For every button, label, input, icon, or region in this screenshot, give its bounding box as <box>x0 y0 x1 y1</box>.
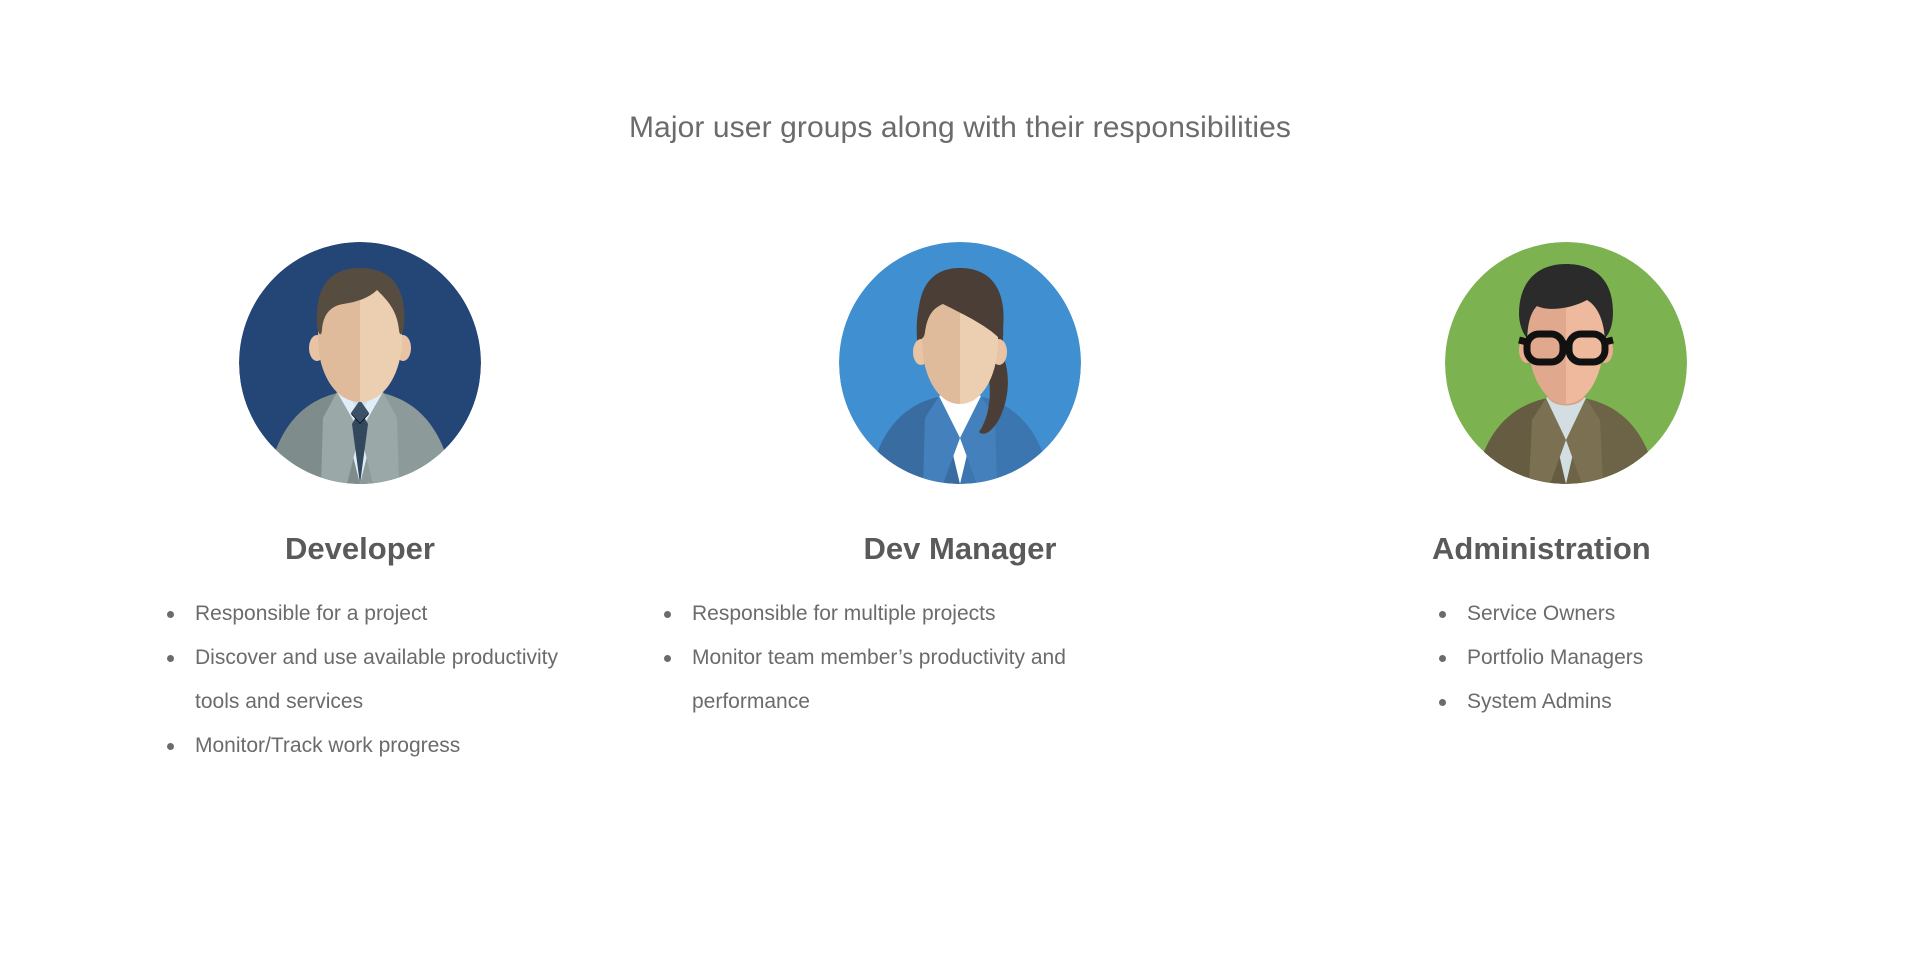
user-group-dev-manager: Dev Manager Responsible for multiple pro… <box>660 240 1260 800</box>
list-item: Service Owners <box>1437 592 1847 636</box>
responsibility-list: Service Owners Portfolio Managers System… <box>1260 592 1860 724</box>
bullet-icon <box>1439 699 1446 706</box>
list-item: Portfolio Managers <box>1437 636 1847 680</box>
list-item-label: Responsible for multiple projects <box>692 602 995 625</box>
list-item: Discover and use available productivity … <box>165 636 575 724</box>
slide-canvas: Major user groups along with their respo… <box>0 0 1920 978</box>
bullet-icon <box>1439 611 1446 618</box>
list-item-label: Service Owners <box>1467 602 1615 625</box>
group-title: Administration <box>1260 530 1860 568</box>
bullet-icon <box>167 743 174 750</box>
page-title: Major user groups along with their respo… <box>0 108 1920 148</box>
avatar-wrap-developer <box>60 240 660 486</box>
list-item: Responsible for a project <box>165 592 575 636</box>
list-item-label: Responsible for a project <box>195 602 427 625</box>
avatar-businessman-icon <box>239 242 481 484</box>
avatar-wrap-dev-manager <box>660 240 1260 486</box>
group-title: Developer <box>60 530 660 568</box>
user-groups-row: Developer Responsible for a project Disc… <box>0 240 1920 800</box>
responsibility-list: Responsible for multiple projects Monito… <box>660 592 1260 724</box>
bullet-icon <box>664 611 671 618</box>
list-item-label: Monitor/Track work progress <box>195 734 460 757</box>
list-item-label: Monitor team member’s productivity and p… <box>692 646 1066 713</box>
list-item: Monitor/Track work progress <box>165 724 575 768</box>
list-item: Monitor team member’s productivity and p… <box>662 636 1072 724</box>
user-group-developer: Developer Responsible for a project Disc… <box>60 240 660 800</box>
list-item-label: Portfolio Managers <box>1467 646 1643 669</box>
list-item-label: System Admins <box>1467 690 1612 713</box>
avatar-admin-glasses-icon <box>1445 242 1687 484</box>
responsibility-list: Responsible for a project Discover and u… <box>60 592 660 768</box>
avatar-wrap-administration <box>1260 240 1860 486</box>
bullet-icon <box>1439 655 1446 662</box>
list-item: Responsible for multiple projects <box>662 592 1072 636</box>
user-group-administration: Administration Service Owners Portfolio … <box>1260 240 1860 800</box>
bullet-icon <box>167 655 174 662</box>
bullet-icon <box>664 655 671 662</box>
avatar-businesswoman-icon <box>839 242 1081 484</box>
list-item-label: Discover and use available productivity … <box>195 646 558 713</box>
group-title: Dev Manager <box>660 530 1260 568</box>
bullet-icon <box>167 611 174 618</box>
list-item: System Admins <box>1437 680 1847 724</box>
